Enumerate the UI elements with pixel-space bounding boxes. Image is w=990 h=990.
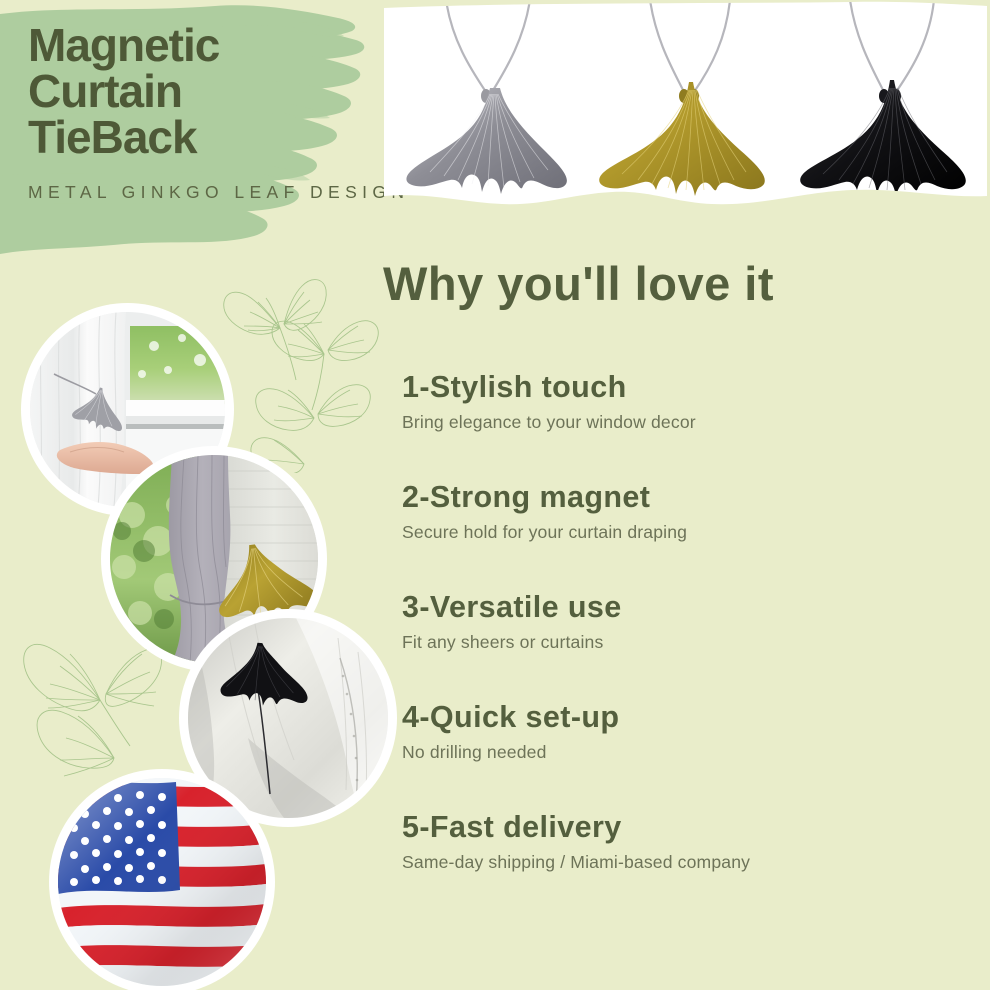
feature-desc-1: Bring elegance to your window decor: [402, 411, 982, 433]
infographic-canvas: Magnetic Curtain TieBack METAL GINKGO LE…: [0, 0, 990, 990]
feature-item-2: 2-Strong magnet Secure hold for your cur…: [402, 480, 982, 543]
feature-title-5: 5-Fast delivery: [402, 810, 982, 844]
feature-desc-5: Same-day shipping / Miami-based company: [402, 851, 982, 873]
feature-item-1: 1-Stylish touch Bring elegance to your w…: [402, 370, 982, 433]
feature-title-4: 4-Quick set-up: [402, 700, 982, 734]
feature-item-5: 5-Fast delivery Same-day shipping / Miam…: [402, 810, 982, 873]
feature-list: 1-Stylish touch Bring elegance to your w…: [402, 370, 982, 873]
feature-desc-3: Fit any sheers or curtains: [402, 631, 982, 653]
feature-title-2: 2-Strong magnet: [402, 480, 982, 514]
feature-desc-4: No drilling needed: [402, 741, 982, 763]
title-block: Magnetic Curtain TieBack METAL GINKGO LE…: [28, 22, 378, 203]
title-subtitle: METAL GINKGO LEAF DESIGN: [28, 182, 378, 203]
title-line-1: Magnetic: [28, 22, 378, 68]
title-line-3: TieBack: [28, 114, 378, 160]
feature-item-4: 4-Quick set-up No drilling needed: [402, 700, 982, 763]
ginkgo-line-art-top: [218, 268, 398, 473]
feature-item-3: 3-Versatile use Fit any sheers or curtai…: [402, 590, 982, 653]
feature-title-3: 3-Versatile use: [402, 590, 982, 624]
photo-cream-curtain-black-leaf: [188, 618, 388, 818]
feature-desc-2: Secure hold for your curtain draping: [402, 521, 982, 543]
ginkgo-line-art-left: [22, 628, 162, 788]
feature-title-1: 1-Stylish touch: [402, 370, 982, 404]
title-line-2: Curtain: [28, 68, 378, 114]
section-heading: Why you'll love it: [383, 258, 774, 310]
hero-product-panel: [382, 0, 990, 232]
photo-usa-flag: [58, 778, 266, 986]
